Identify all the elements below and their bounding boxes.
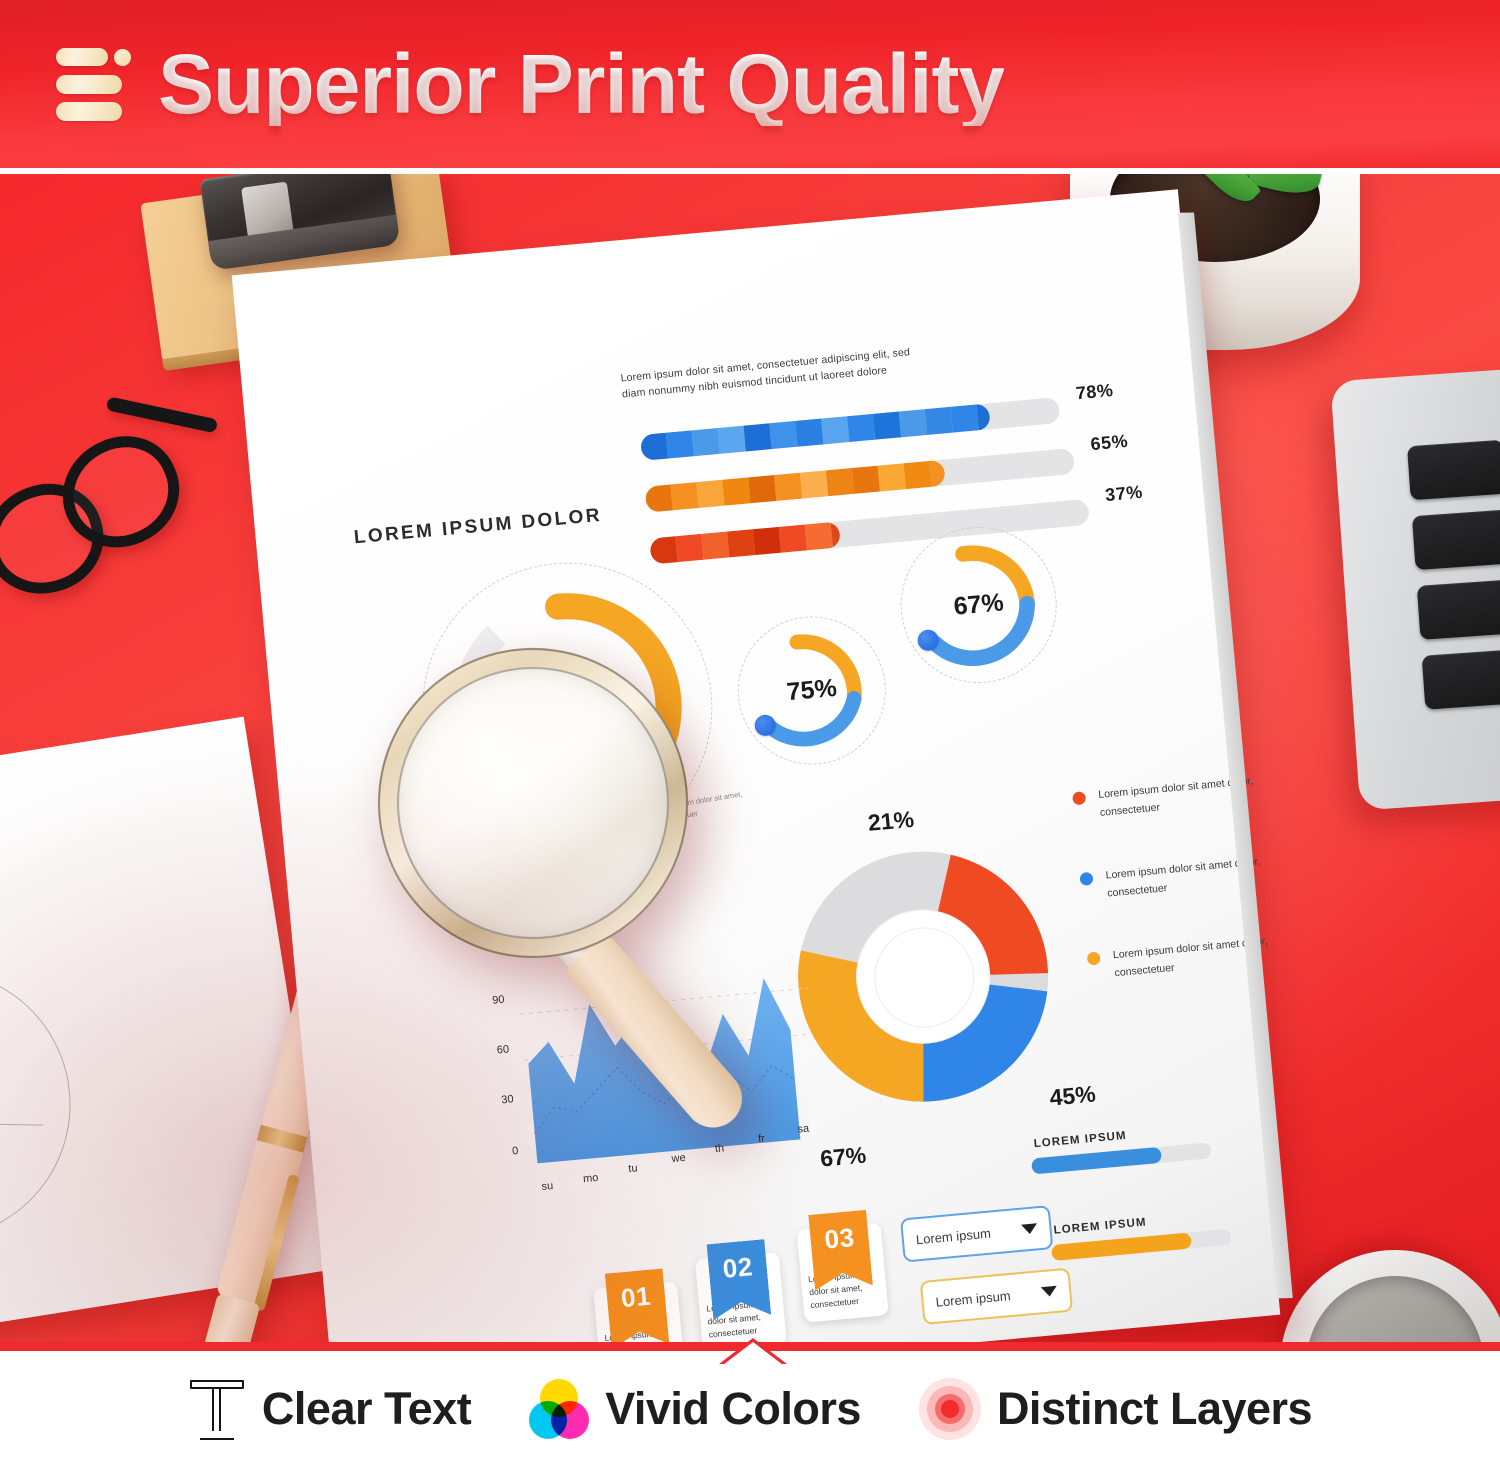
dropdown-select-blue[interactable]: Lorem ipsum — [900, 1205, 1053, 1262]
header-banner: Superior Print Quality — [0, 0, 1500, 168]
legend-label: Lorem ipsum dolor sit amet dolor, consec… — [1105, 855, 1261, 899]
y-tick: 0 — [512, 1145, 519, 1158]
donut-label-67: 67% — [819, 1142, 867, 1173]
legend-label: Lorem ipsum dolor sit amet dolor, consec… — [1098, 775, 1254, 819]
card-ribbon: 01 — [605, 1268, 670, 1342]
desk-scene-photo: LOREM IPSUM DOLOR Lorem ipsum dolor sit … — [0, 174, 1500, 1342]
donut-chart — [787, 841, 1059, 1113]
x-tick: fr — [758, 1133, 766, 1146]
slider-orange[interactable]: LOREM IPSUM — [1051, 1229, 1230, 1245]
laptop-keyboard — [1330, 363, 1500, 810]
progress-bar-row — [640, 397, 1061, 461]
x-tick: su — [541, 1180, 554, 1193]
x-tick: mo — [583, 1172, 599, 1185]
numbered-cards-group: 01 Lorem ipsum dolor sit amet, consectet… — [590, 1228, 902, 1342]
cmyk-circles-icon — [529, 1379, 589, 1439]
x-tick: we — [671, 1152, 686, 1165]
y-tick: 60 — [496, 1043, 509, 1056]
x-tick: sa — [797, 1123, 810, 1136]
donut-legend: Lorem ipsum dolor sit amet dolor, consec… — [1072, 770, 1283, 1028]
card-number: 03 — [823, 1222, 856, 1256]
dropdown-value: Lorem ipsum — [935, 1288, 1011, 1310]
dropdown-value: Lorem ipsum — [915, 1225, 991, 1247]
y-tick: 90 — [492, 994, 505, 1007]
banner-title: Superior Print Quality — [158, 42, 1004, 126]
x-tick: tu — [628, 1162, 638, 1175]
text-format-icon — [188, 1378, 246, 1440]
feature-label: Distinct Layers — [997, 1383, 1312, 1435]
feature-distinct-layers: Distinct Layers — [919, 1378, 1312, 1440]
x-tick: th — [714, 1142, 724, 1155]
legend-dot — [1079, 871, 1093, 885]
slider-label: LOREM IPSUM — [1033, 1130, 1127, 1150]
chevron-down-icon — [1021, 1223, 1038, 1234]
features-footer: Clear Text Vivid Colors Distinct Layers — [0, 1342, 1500, 1467]
product-infographic-image: Superior Print Quality — [0, 0, 1500, 1467]
eyeglasses — [0, 396, 230, 628]
progress-value-1: 78% — [1075, 380, 1114, 404]
donut-label-45: 45% — [1048, 1081, 1096, 1112]
feature-vivid-colors: Vivid Colors — [529, 1379, 861, 1439]
slider-blue[interactable]: LOREM IPSUM — [1031, 1142, 1210, 1158]
legend-dot — [1087, 952, 1101, 966]
progress-value-2: 65% — [1090, 431, 1129, 455]
stacked-bars-icon — [56, 48, 144, 122]
gauge-75: 75% — [731, 610, 892, 771]
legend-dot — [1072, 791, 1086, 805]
progress-bars-group: Lorem ipsum dolor sit amet, consectetuer… — [619, 315, 1155, 561]
numbered-card[interactable]: 02 Lorem ipsum dolor sit amet, consectet… — [695, 1252, 787, 1342]
chevron-down-icon — [1041, 1286, 1058, 1297]
feature-label: Vivid Colors — [605, 1383, 861, 1435]
legend-item: Lorem ipsum dolor sit amet dolor, consec… — [1072, 770, 1265, 824]
coffee-cup — [1280, 1250, 1500, 1342]
progress-bar-row — [645, 448, 1076, 513]
legend-item: Lorem ipsum dolor sit amet dolor, consec… — [1079, 850, 1272, 904]
progress-value-3: 37% — [1104, 482, 1143, 506]
sheet-title: LOREM IPSUM DOLOR — [353, 505, 603, 549]
concentric-layers-icon — [919, 1378, 981, 1440]
slider-label: LOREM IPSUM — [1053, 1216, 1147, 1236]
dropdown-select-amber[interactable]: Lorem ipsum — [920, 1268, 1073, 1325]
gauge-67: 67% — [894, 520, 1063, 689]
numbered-card[interactable]: 01 Lorem ipsum dolor sit amet, consectet… — [593, 1281, 685, 1342]
legend-label: Lorem ipsum dolor sit amet dolor, consec… — [1112, 935, 1268, 979]
legend-item: Lorem ipsum dolor sit amet dolor, consec… — [1086, 931, 1279, 985]
y-axis-labels: 90 60 30 0 — [478, 994, 519, 1166]
feature-label: Clear Text — [262, 1383, 471, 1435]
card-number: 01 — [620, 1281, 653, 1315]
numbered-card[interactable]: 03 Lorem ipsum dolor sit amet, consectet… — [797, 1222, 889, 1322]
progress-bars-caption: Lorem ipsum dolor sit amet, consectetuer… — [620, 342, 932, 402]
y-tick: 30 — [501, 1093, 514, 1106]
donut-label-21: 21% — [867, 806, 915, 837]
feature-clear-text: Clear Text — [188, 1378, 471, 1440]
card-number: 02 — [721, 1251, 754, 1285]
footer-notch — [719, 1342, 787, 1368]
